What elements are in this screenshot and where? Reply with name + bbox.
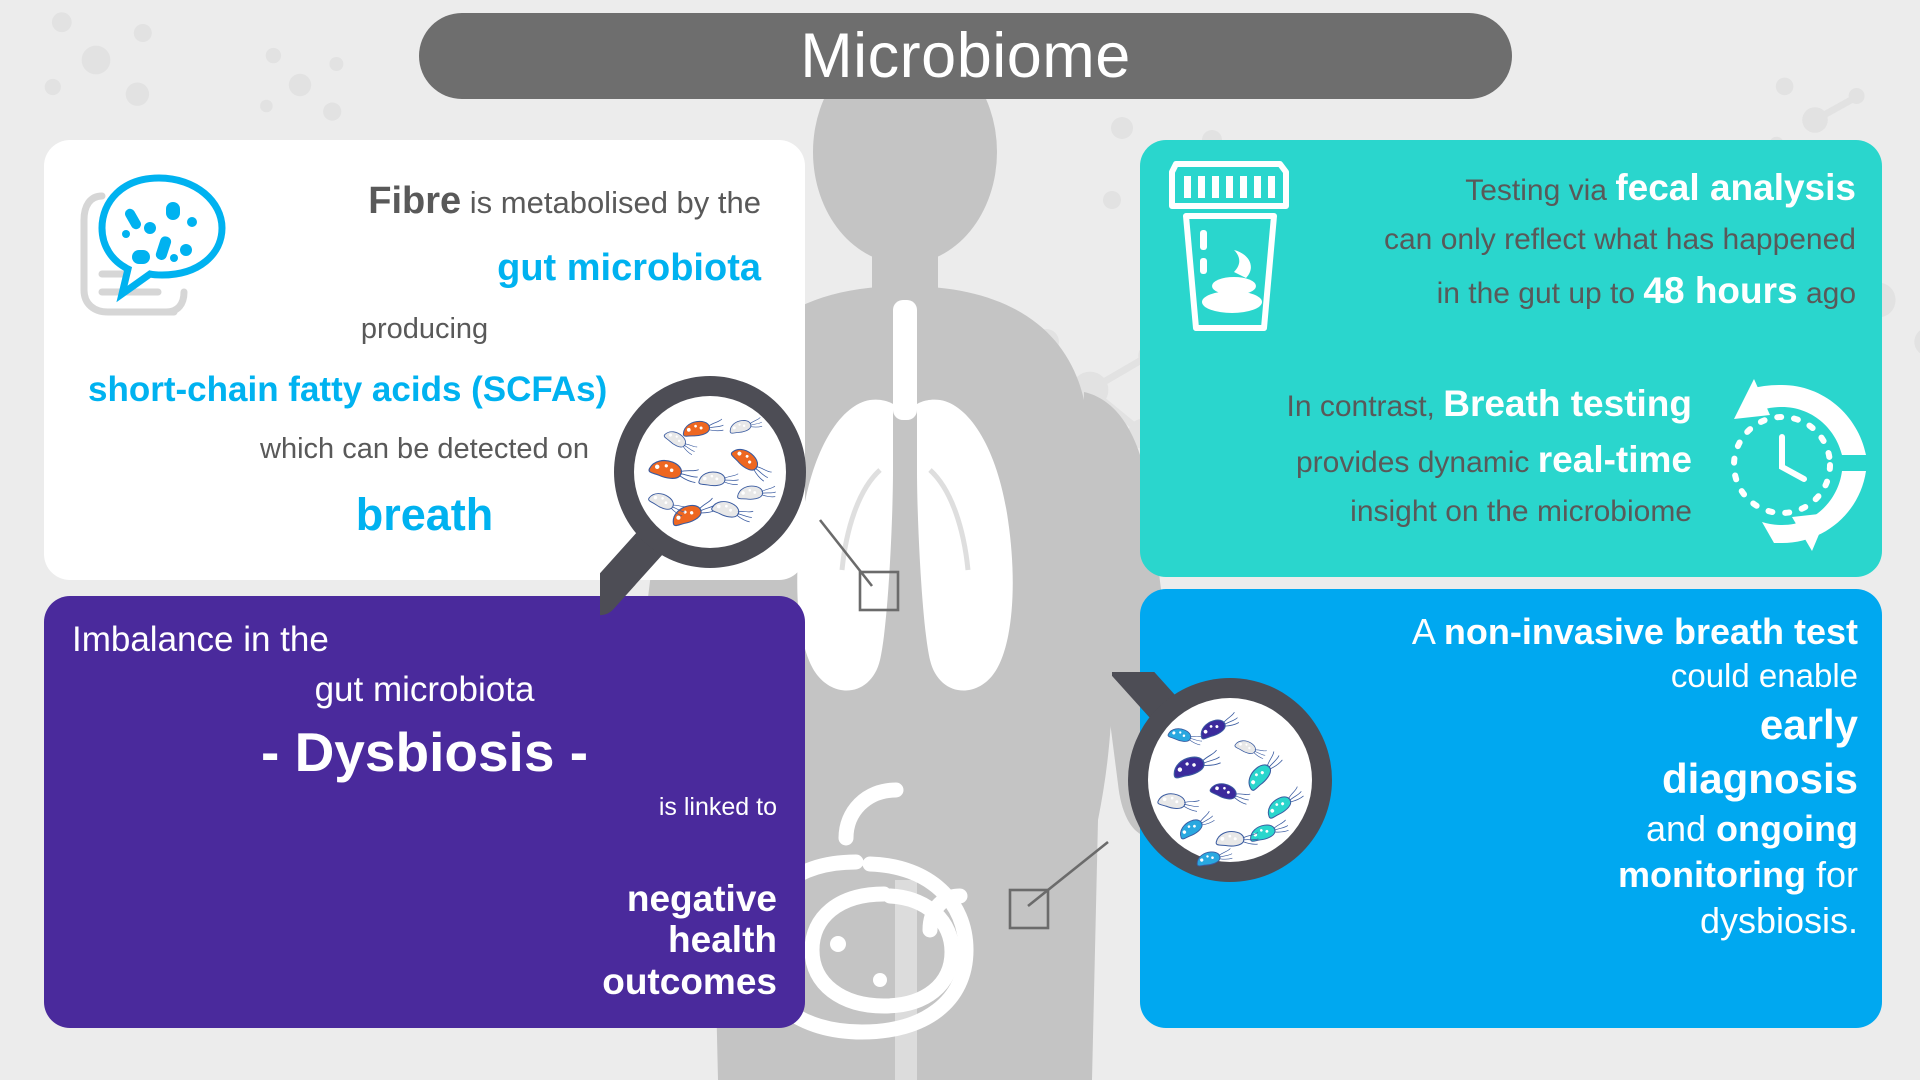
text-line: in the gut up to 48 hours ago xyxy=(1266,269,1856,313)
text-line: Testing via fecal analysis xyxy=(1266,166,1856,210)
text-segment: non-invasive breath test xyxy=(1444,611,1858,652)
text-segment: and xyxy=(1646,808,1716,849)
text-segment: Imbalance in the xyxy=(72,620,329,659)
text-segment: can only reflect what has happened xyxy=(1384,223,1856,256)
negative-health-outcomes-text: negativehealthoutcomes xyxy=(447,878,777,1002)
text-line: - Dysbiosis - xyxy=(72,720,777,785)
text-segment: short-chain fatty acids (SCFAs) xyxy=(88,370,607,409)
fecal-analysis-card: Testing via fecal analysiscan only refle… xyxy=(1140,140,1882,577)
text-line: In contrast, Breath testing xyxy=(1262,382,1692,426)
infographic-canvas: Microbiome xyxy=(0,0,1920,1080)
text-segment: real-time xyxy=(1538,439,1692,480)
text-segment: for xyxy=(1806,854,1858,895)
gut-bacteria-magnifier-upper xyxy=(600,372,830,662)
page-title: Microbiome xyxy=(419,13,1512,99)
text-line: is linked to xyxy=(72,793,777,823)
text-segment: diagnosis xyxy=(1662,755,1858,802)
text-segment: In contrast, xyxy=(1286,390,1443,423)
text-segment: Fibre xyxy=(368,180,461,222)
text-line: A non-invasive breath test xyxy=(1198,611,1858,653)
text-segment: ago xyxy=(1798,277,1856,310)
gut-bacteria-magnifier-lower xyxy=(1112,672,1352,972)
text-segment: A xyxy=(1412,611,1444,652)
text-segment: ongoing xyxy=(1716,808,1858,849)
text-segment: gut microbiota xyxy=(497,247,761,289)
text-line: gut microbiota xyxy=(88,246,761,291)
text-segment: dysbiosis. xyxy=(1700,900,1858,941)
text-line: Fibre is metabolised by the xyxy=(88,179,761,224)
text-line: gut microbiota xyxy=(72,669,777,710)
fecal-analysis-text-block: Testing via fecal analysiscan only refle… xyxy=(1266,154,1856,325)
text-line: insight on the microbiome xyxy=(1262,494,1692,529)
page-title-text: Microbiome xyxy=(800,20,1131,92)
text-segment: which can be detected on xyxy=(260,433,589,465)
text-segment: monitoring xyxy=(1618,854,1806,895)
clock-arrows-realtime-icon xyxy=(1692,375,1872,555)
text-segment: Breath testing xyxy=(1443,383,1692,424)
text-segment: is linked to xyxy=(659,793,777,821)
text-line: producing xyxy=(88,312,761,346)
text-segment: 48 hours xyxy=(1643,270,1797,311)
text-segment: could enable xyxy=(1671,657,1858,694)
text-segment: in the gut up to xyxy=(1437,277,1644,310)
text-segment: is metabolised by the xyxy=(461,185,761,220)
text-segment: provides dynamic xyxy=(1296,446,1538,479)
text-segment: Testing via xyxy=(1465,174,1615,207)
outcome-line: health xyxy=(447,919,777,960)
text-segment: gut microbiota xyxy=(315,670,535,709)
text-line: can only reflect what has happened xyxy=(1266,222,1856,257)
text-segment: breath xyxy=(356,489,494,540)
text-segment: fecal analysis xyxy=(1615,167,1856,208)
text-segment: - Dysbiosis - xyxy=(261,721,588,783)
text-segment: insight on the microbiome xyxy=(1350,495,1692,528)
outcome-line: negative xyxy=(447,878,777,919)
outcome-line: outcomes xyxy=(447,961,777,1002)
text-segment: early xyxy=(1760,701,1858,748)
text-line: provides dynamic real-time xyxy=(1262,438,1692,482)
breath-testing-contrast-text-block: In contrast, Breath testingprovides dyna… xyxy=(1262,370,1692,541)
text-segment: producing xyxy=(361,313,488,345)
